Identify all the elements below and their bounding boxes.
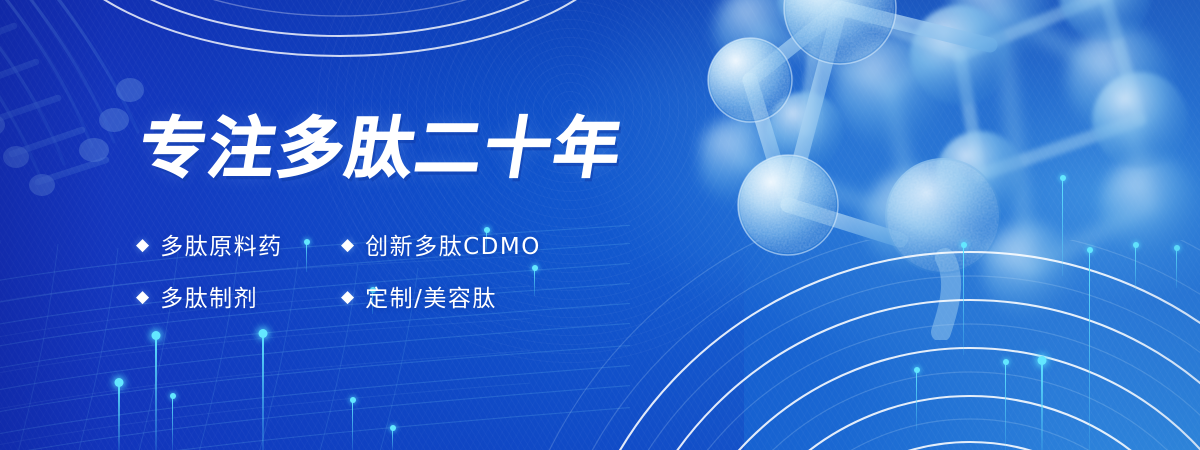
diamond-bullet-icon: ◆ [136, 236, 149, 253]
diamond-bullet-icon: ◆ [341, 236, 354, 253]
diamond-bullet-icon: ◆ [136, 288, 149, 305]
page-title: 专注多肽二十年 [135, 116, 628, 182]
list-item[interactable]: ◆ 多肽制剂 [136, 279, 341, 313]
diamond-bullet-icon: ◆ [341, 288, 354, 305]
list-item[interactable]: ◆ 定制/美容肽 [341, 279, 606, 313]
hero-banner: 专注多肽二十年 ◆ 多肽原料药 ◆ 创新多肽CDMO ◆ 多肽制剂 ◆ 定制/美… [0, 0, 1200, 450]
list-item[interactable]: ◆ 创新多肽CDMO [341, 227, 606, 261]
list-item-label: 多肽原料药 [160, 227, 283, 261]
banner-content: 专注多肽二十年 ◆ 多肽原料药 ◆ 创新多肽CDMO ◆ 多肽制剂 ◆ 定制/美… [0, 0, 1200, 450]
list-item-label: 定制/美容肽 [365, 279, 497, 313]
list-item-label: 多肽制剂 [160, 279, 258, 313]
feature-list: ◆ 多肽原料药 ◆ 创新多肽CDMO ◆ 多肽制剂 ◆ 定制/美容肽 [136, 218, 606, 322]
list-item[interactable]: ◆ 多肽原料药 [136, 227, 341, 261]
list-item-label: 创新多肽CDMO [365, 227, 541, 261]
